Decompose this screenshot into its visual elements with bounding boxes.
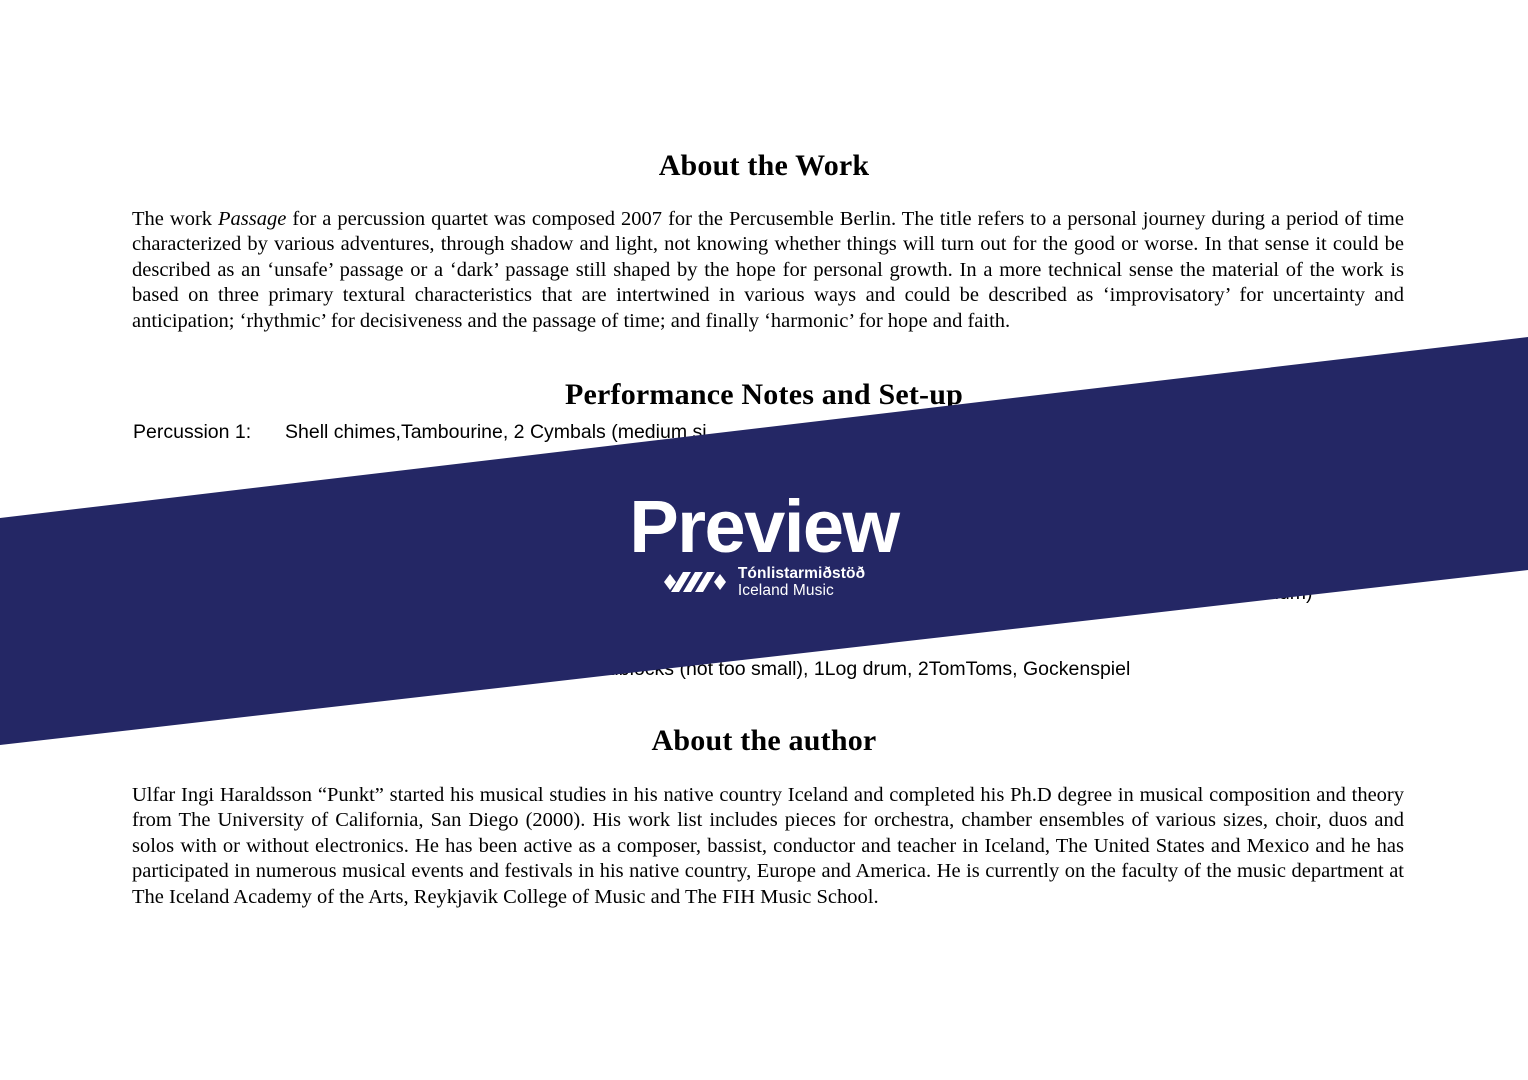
- paragraph-run-plain: The work: [132, 208, 218, 230]
- heading-performance-notes-and-setup: Performance Notes and Set-up: [0, 378, 1528, 412]
- instrument-line-percussion-1: Percussion 1:Shell chimes,Tambourine, 2 …: [133, 420, 707, 444]
- paragraph-run-rest: for a percussion quartet was composed 20…: [132, 208, 1404, 332]
- instrument-line-partial-medium: s (medium): [1215, 581, 1313, 605]
- heading-about-the-author: About the author: [0, 724, 1528, 758]
- document-content-layer: About the Work The work Passage for a pe…: [0, 0, 1528, 1080]
- paragraph-about-the-author: Ulfar Ingi Haraldsson “Punkt” started hi…: [132, 783, 1404, 911]
- heading-about-the-work: About the Work: [0, 149, 1528, 183]
- paragraph-about-the-work: The work Passage for a percussion quarte…: [132, 207, 1404, 335]
- document-page: About the Work The work Passage for a pe…: [0, 0, 1528, 1080]
- instrument-line-items: ), 2Woodblocks (not too small), 1Log dru…: [540, 658, 1130, 680]
- instrument-line-items: s (medium): [1215, 582, 1313, 604]
- instrument-line-percussion-woodblocks: ), 2Woodblocks (not too small), 1Log dru…: [540, 657, 1130, 681]
- instrument-line-items: Shell chimes,Tambourine, 2 Cymbals (medi…: [285, 421, 707, 443]
- paragraph-run-italic-title: Passage: [218, 208, 286, 230]
- instrument-line-label: Percussion 1:: [133, 420, 285, 444]
